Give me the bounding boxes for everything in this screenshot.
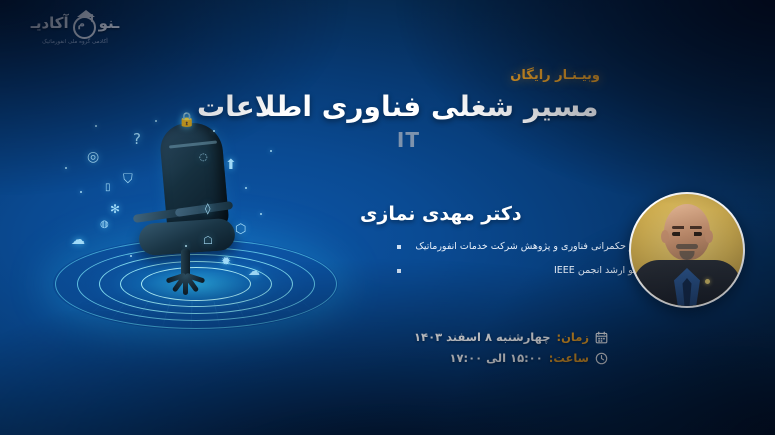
webinar-poster: ـنو م آکادیـ آکادمی گروه ملی انفورماتیک bbox=[0, 0, 775, 435]
schedule-date-row: زمان: چهارشنبه ۸ اسفند ۱۴۰۳ bbox=[414, 330, 608, 344]
credential-text: عضو ارشد انجمن IEEE bbox=[407, 264, 647, 279]
lock-icon: 🔒 bbox=[178, 113, 195, 127]
graduation-cap-icon: م bbox=[71, 10, 97, 36]
chip-icon: ☁ bbox=[248, 265, 260, 277]
page-title: مسیر شغلی فناوری اطلاعات bbox=[197, 90, 727, 123]
shield-icon: ⛉ bbox=[123, 173, 133, 186]
schedule-date-value: چهارشنبه ۸ اسفند ۱۴۰۳ bbox=[414, 330, 550, 344]
mobile-icon: ▯ bbox=[105, 183, 111, 193]
database-icon: ⬡ bbox=[235, 223, 246, 236]
schedule-block: زمان: چهارشنبه ۸ اسفند ۱۴۰۳ ساعت: ۱۵:۰۰ … bbox=[358, 330, 608, 365]
credential-text: مدیر حکمرانی فناوری و پژوهش شرکت خدمات ا… bbox=[407, 240, 647, 255]
free-webinar-badge: وبیـنـار رایگان bbox=[510, 68, 600, 83]
question-mark-icon: ? bbox=[133, 132, 141, 147]
speaker-name: دکتر مهدی نمازی bbox=[360, 203, 625, 225]
info-icon: ◍ bbox=[100, 220, 109, 230]
schedule-time-row: ساعت: ۱۵:۰۰ الی ۱۷:۰۰ bbox=[449, 351, 608, 365]
rocket-icon: ⬆ bbox=[225, 158, 237, 172]
calendar-icon bbox=[595, 331, 608, 344]
office-chair-hologram-illustration: 🔒 ? ◎ ⛉ ☁ ⬆ ✻ ⬡ ◊ ☖ ✹ ☁ ◍ ▯ ◌ bbox=[35, 95, 355, 340]
bullet-dot-icon bbox=[397, 269, 401, 273]
circle-icon: ◌ bbox=[199, 153, 208, 163]
fingerprint-icon: ◎ bbox=[87, 150, 99, 164]
cloud-icon: ☁ bbox=[71, 233, 85, 247]
office-chair bbox=[123, 123, 263, 308]
snowflake-icon: ✻ bbox=[110, 203, 120, 215]
brand-subtitle: آکادمی گروه ملی انفورماتیک bbox=[10, 39, 140, 45]
logo-row: ـنو م آکادیـ bbox=[10, 8, 140, 38]
list-item: عضو ارشد انجمن IEEE bbox=[397, 264, 647, 279]
speaker-credentials: مدیر حکمرانی فناوری و پژوهش شرکت خدمات ا… bbox=[397, 240, 647, 287]
bullet-dot-icon bbox=[397, 245, 401, 249]
logo-word-right: آکادیـ bbox=[31, 14, 69, 32]
schedule-time-label: ساعت: bbox=[549, 351, 589, 365]
clock-icon bbox=[595, 352, 608, 365]
schedule-time-value: ۱۵:۰۰ الی ۱۷:۰۰ bbox=[449, 351, 542, 365]
logo-mark-glyph: م bbox=[78, 20, 85, 30]
page-title-en: IT bbox=[397, 128, 420, 152]
logo-word-left: ـنو bbox=[99, 14, 120, 32]
user-icon: ☖ bbox=[203, 235, 213, 246]
schedule-date-label: زمان: bbox=[557, 330, 589, 344]
gear-icon: ✹ bbox=[221, 255, 231, 267]
list-item: مدیر حکمرانی فناوری و پژوهش شرکت خدمات ا… bbox=[397, 240, 647, 255]
bulb-icon: ◊ bbox=[205, 203, 210, 214]
avatar bbox=[629, 192, 745, 308]
brand-logo[interactable]: ـنو م آکادیـ آکادمی گروه ملی انفورماتیک bbox=[10, 8, 140, 45]
